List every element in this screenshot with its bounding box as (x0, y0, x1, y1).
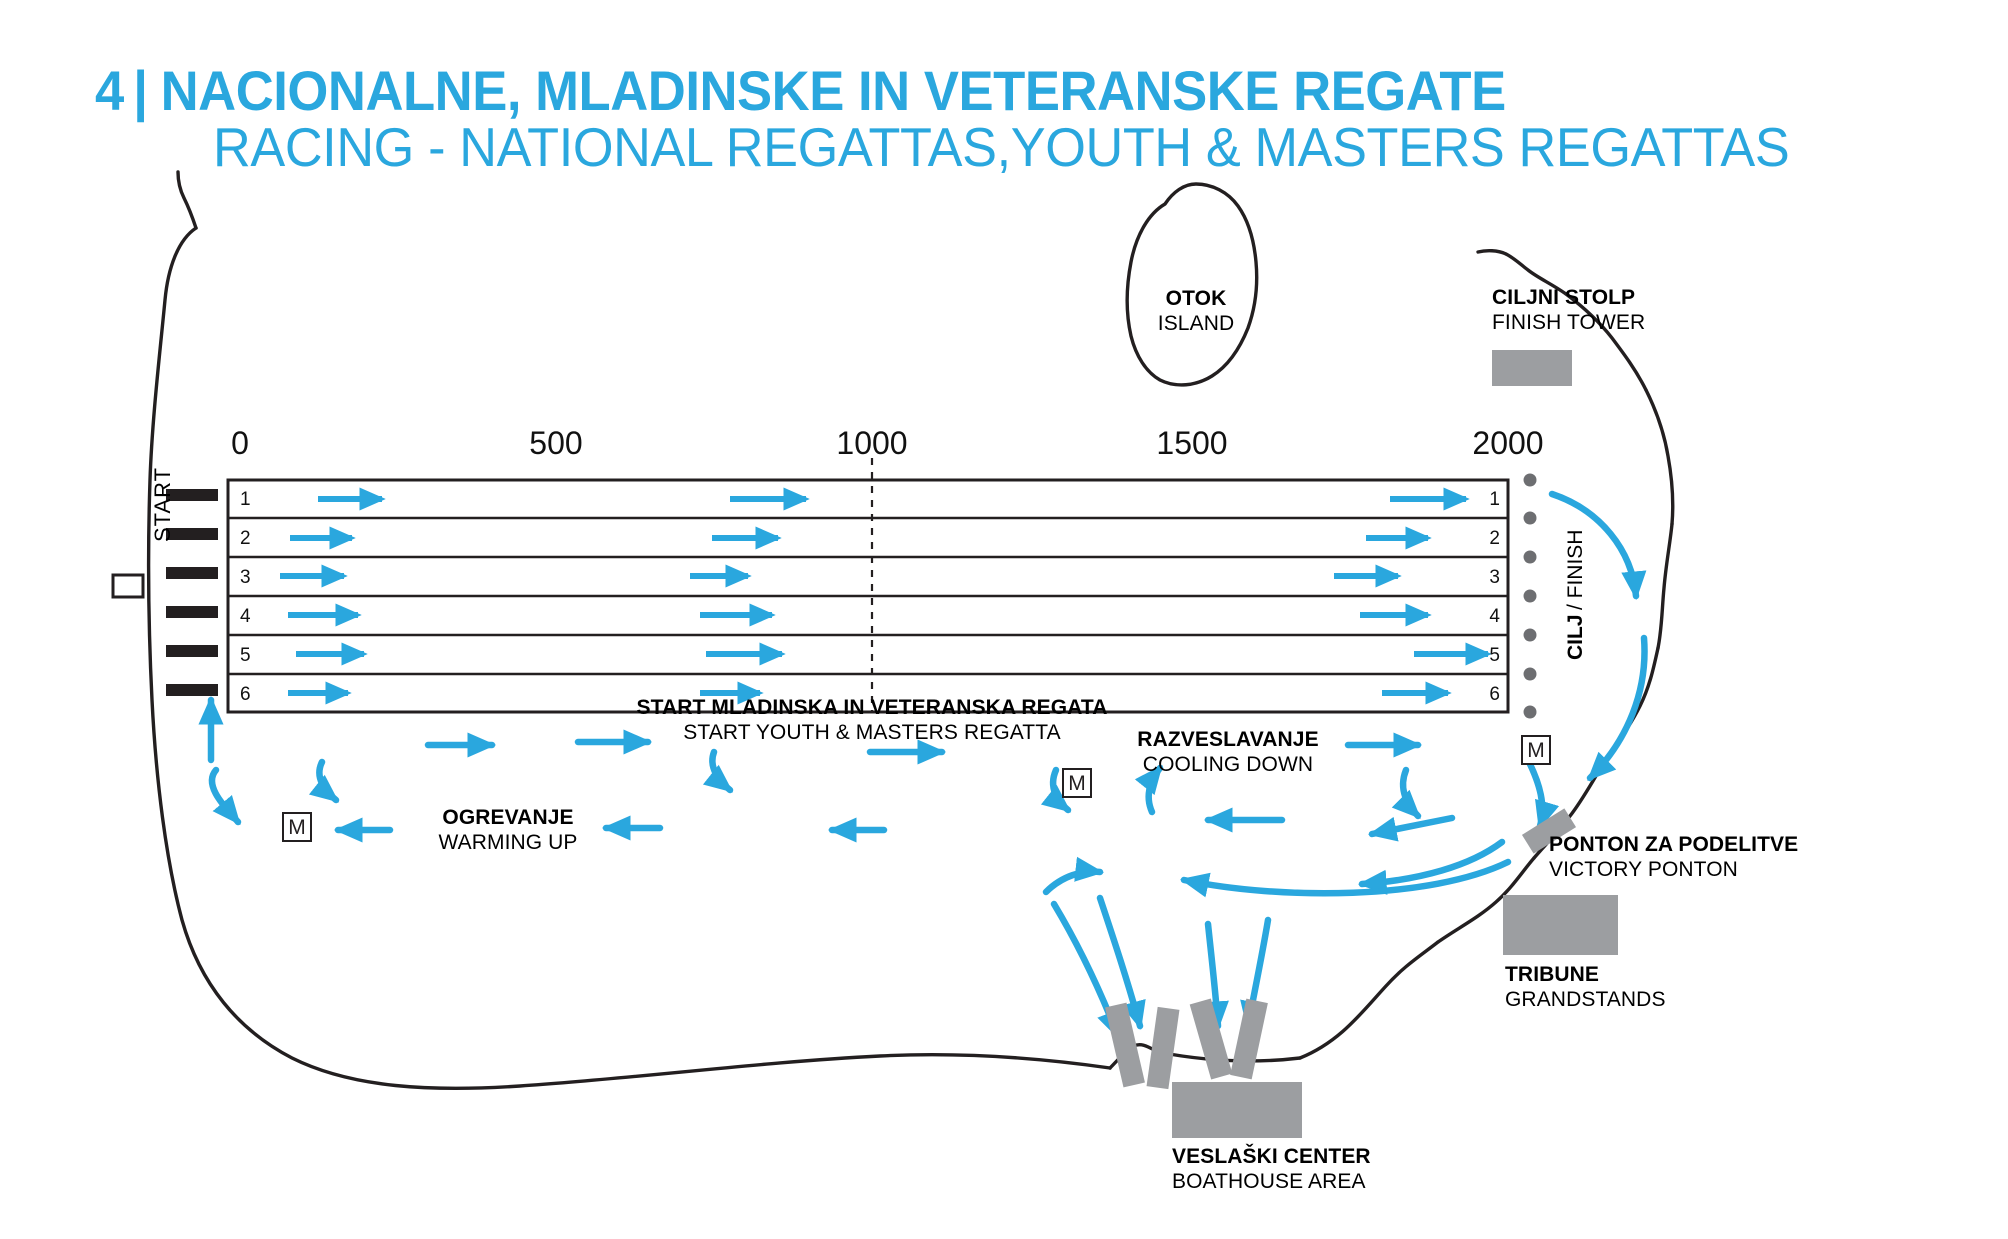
grandstands-label-slovene: TRIBUNE (1505, 962, 1666, 987)
grandstands-block (1503, 895, 1618, 955)
lane-number-left-1: 1 (240, 489, 251, 511)
lane-number-left-5: 5 (240, 645, 251, 667)
distance-tick-1000: 1000 (836, 425, 907, 462)
lane-number-right-4: 4 (1489, 606, 1500, 628)
finish-line-label: CILJ / FINISH (1564, 530, 1588, 660)
victory-ponton-label-slovene: PONTON ZA PODELITVE (1549, 832, 1798, 857)
course-map-artwork (0, 0, 2008, 1239)
lane-number-left-4: 4 (240, 606, 251, 628)
youth-start-label: START MLADINSKA IN VETERANSKA REGATA STA… (636, 695, 1107, 745)
finish-tower-block (1492, 350, 1572, 386)
boathouse-label: VESLAŠKI CENTER BOATHOUSE AREA (1172, 1144, 1371, 1194)
youth-start-label-slovene: START MLADINSKA IN VETERANSKA REGATA (636, 695, 1107, 720)
boathouse-block (1172, 1082, 1302, 1138)
finish-tower-label-slovene: CILJNI STOLP (1492, 285, 1645, 310)
grandstands-label: TRIBUNE GRANDSTANDS (1505, 962, 1666, 1012)
lane-number-right-2: 2 (1489, 528, 1500, 550)
victory-ponton-label: PONTON ZA PODELITVE VICTORY PONTON (1549, 832, 1798, 882)
regatta-course-diagram: 4|NACIONALNE, MLADINSKE IN VETERANSKE RE… (0, 0, 2008, 1239)
boathouse-label-slovene: VESLAŠKI CENTER (1172, 1144, 1371, 1169)
lane-number-right-5: 5 (1489, 645, 1500, 667)
finish-line-label-slovene: CILJ (1564, 614, 1587, 660)
grandstands-label-english: GRANDSTANDS (1505, 987, 1666, 1012)
island-label-slovene: OTOK (1158, 286, 1234, 311)
distance-tick-500: 500 (529, 425, 582, 462)
warming-up-label-slovene: OGREVANJE (438, 805, 577, 830)
distance-tick-0: 0 (231, 425, 249, 462)
cooling-down-label-slovene: RAZVESLAVANJE (1137, 727, 1318, 752)
lane-number-right-1: 1 (1489, 489, 1500, 511)
cooling-down-label: RAZVESLAVANJE COOLING DOWN (1137, 727, 1318, 777)
lane-number-right-6: 6 (1489, 684, 1500, 706)
finish-buoy-dots (1524, 474, 1537, 719)
boat-docks (1105, 998, 1268, 1089)
lane-number-right-3: 3 (1489, 567, 1500, 589)
victory-ponton-label-english: VICTORY PONTON (1549, 857, 1798, 882)
island-label: OTOK ISLAND (1158, 286, 1234, 336)
start-boat-marker (113, 575, 143, 597)
lane-number-left-6: 6 (240, 684, 251, 706)
warming-up-label-english: WARMING UP (438, 830, 577, 855)
island-label-english: ISLAND (1158, 311, 1234, 336)
marker-buoy-m-3: M (1521, 735, 1551, 765)
lane-number-left-2: 2 (240, 528, 251, 550)
marker-buoy-m-2: M (1062, 768, 1092, 798)
finish-tower-label-english: FINISH TOWER (1492, 310, 1645, 335)
lane-number-left-3: 3 (240, 567, 251, 589)
race-course-lanes (228, 480, 1508, 712)
finish-line-label-english: / FINISH (1564, 530, 1587, 611)
boathouse-label-english: BOATHOUSE AREA (1172, 1169, 1371, 1194)
start-label: START (150, 467, 176, 542)
marker-buoy-m-1: M (282, 812, 312, 842)
finish-tower-label: CILJNI STOLP FINISH TOWER (1492, 285, 1645, 335)
warming-up-label: OGREVANJE WARMING UP (438, 805, 577, 855)
distance-tick-1500: 1500 (1156, 425, 1227, 462)
cooling-down-label-english: COOLING DOWN (1137, 752, 1318, 777)
island-outline (1127, 184, 1256, 385)
distance-tick-2000: 2000 (1472, 425, 1543, 462)
shoreline-top-left (178, 172, 196, 228)
youth-start-label-english: START YOUTH & MASTERS REGATTA (636, 720, 1107, 745)
